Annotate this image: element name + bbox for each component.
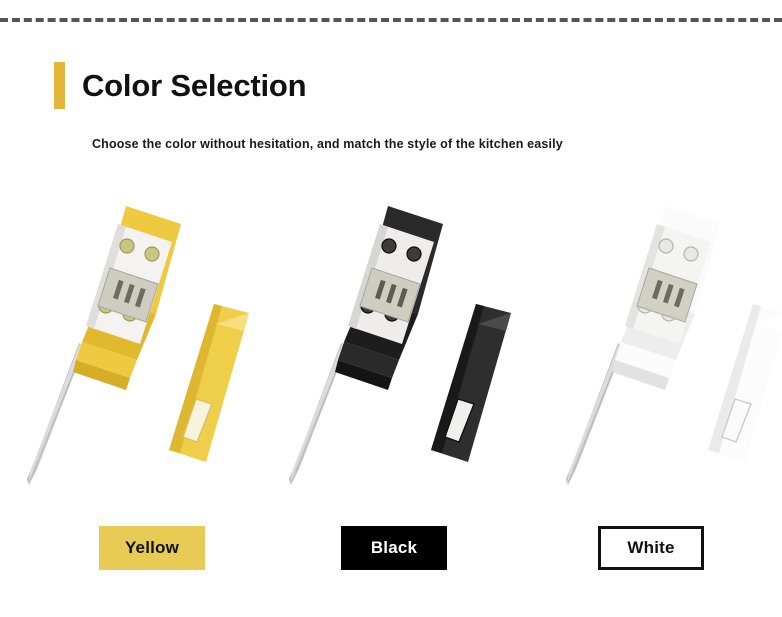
thermometer-sheath-white [708,304,782,462]
color-option-yellow[interactable]: Yellow [99,526,205,570]
product-image-black[interactable] [268,196,528,496]
color-option-label: White [627,538,674,558]
thermometer-body-black [335,206,443,390]
product-image-white[interactable] [545,196,782,496]
thermometer-sheath-yellow [169,304,249,462]
color-option-label: Black [371,538,417,558]
product-gallery [0,196,782,496]
color-option-white[interactable]: White [598,526,704,570]
color-option-label: Yellow [125,538,179,558]
thermometer-body-yellow [73,206,181,390]
color-option-list: Yellow Black White [0,526,782,572]
thermometer-sheath-black [431,304,511,462]
color-option-black[interactable]: Black [341,526,447,570]
product-image-yellow[interactable] [6,196,266,496]
title-accent-bar [54,62,65,109]
section-header: Color Selection [54,62,306,109]
top-dashed-divider [0,18,782,22]
page-title: Color Selection [82,70,306,101]
page-subtitle: Choose the color without hesitation, and… [92,137,563,151]
thermometer-body-white [612,206,720,390]
